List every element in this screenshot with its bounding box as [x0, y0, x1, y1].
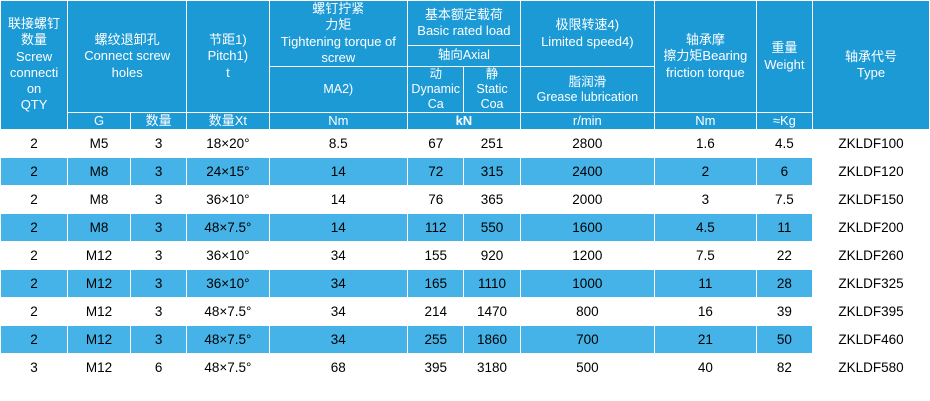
- unit-holes-qty: 数量: [130, 113, 186, 130]
- cell-holes-qty: 3: [130, 129, 186, 157]
- table-header: 联接螺钉 数量 Screw connecti on QTY 螺纹退卸孔 Conn…: [1, 1, 930, 130]
- header-connect-screw-qty: 联接螺钉 数量 Screw connecti on QTY: [1, 1, 68, 130]
- cell-pitch: 36×10°: [187, 241, 269, 269]
- cell-friction: 4.5: [654, 213, 756, 241]
- cell-connect: 3: [1, 353, 68, 381]
- cell-dynamic: 395: [408, 353, 464, 381]
- cell-type: ZKLDF395: [813, 297, 930, 325]
- cell-pitch: 36×10°: [187, 185, 269, 213]
- cell-speed: 2800: [520, 129, 654, 157]
- cell-holes-g: M5: [68, 129, 131, 157]
- cell-holes-g: M12: [68, 325, 131, 353]
- cell-type: ZKLDF150: [813, 185, 930, 213]
- unit-torque: Nm: [269, 113, 408, 130]
- cell-weight: 4.5: [756, 129, 812, 157]
- cell-friction: 16: [654, 297, 756, 325]
- header-row-main: 联接螺钉 数量 Screw connecti on QTY 螺纹退卸孔 Conn…: [1, 1, 930, 46]
- cell-type: ZKLDF580: [813, 353, 930, 381]
- cell-speed: 1000: [520, 269, 654, 297]
- table-row: 2M8336×10°1476365200037.5ZKLDF150: [1, 185, 930, 213]
- cell-weight: 28: [756, 269, 812, 297]
- cell-torque: 34: [269, 325, 408, 353]
- cell-weight: 7.5: [756, 185, 812, 213]
- header-limited-speed: 极限转速4) Limited speed4): [520, 1, 654, 67]
- table-row: 2M12336×10°34165111010001128ZKLDF325: [1, 269, 930, 297]
- header-tightening-torque: 螺钉拧紧 力矩 Tightening torque of screw: [269, 1, 408, 67]
- cell-pitch: 48×7.5°: [187, 297, 269, 325]
- cell-friction: 40: [654, 353, 756, 381]
- cell-dynamic: 112: [408, 213, 464, 241]
- cell-connect: 2: [1, 297, 68, 325]
- cell-holes-qty: 3: [130, 185, 186, 213]
- cell-pitch: 48×7.5°: [187, 213, 269, 241]
- cell-holes-qty: 3: [130, 157, 186, 185]
- cell-static: 315: [464, 157, 520, 185]
- cell-weight: 50: [756, 325, 812, 353]
- cell-dynamic: 72: [408, 157, 464, 185]
- cell-static: 1470: [464, 297, 520, 325]
- cell-holes-g: M8: [68, 213, 131, 241]
- cell-friction: 11: [654, 269, 756, 297]
- table-row: 2M12336×10°3415592012007.522ZKLDF260: [1, 241, 930, 269]
- cell-type: ZKLDF260: [813, 241, 930, 269]
- cell-static: 1860: [464, 325, 520, 353]
- unit-friction: Nm: [654, 113, 756, 130]
- cell-dynamic: 165: [408, 269, 464, 297]
- unit-pitch: 数量Xt: [187, 113, 269, 130]
- cell-torque: 14: [269, 185, 408, 213]
- cell-type: ZKLDF100: [813, 129, 930, 157]
- cell-type: ZKLDF120: [813, 157, 930, 185]
- cell-torque: 8.5: [269, 129, 408, 157]
- cell-connect: 2: [1, 325, 68, 353]
- cell-torque: 14: [269, 213, 408, 241]
- cell-weight: 6: [756, 157, 812, 185]
- cell-pitch: 24×15°: [187, 157, 269, 185]
- cell-holes-qty: 3: [130, 241, 186, 269]
- cell-static: 920: [464, 241, 520, 269]
- header-grease-lubrication: 脂润滑 Grease lubrication: [520, 67, 654, 113]
- cell-speed: 500: [520, 353, 654, 381]
- cell-holes-g: M12: [68, 269, 131, 297]
- cell-pitch: 36×10°: [187, 269, 269, 297]
- cell-holes-g: M8: [68, 185, 131, 213]
- cell-connect: 2: [1, 269, 68, 297]
- cell-static: 365: [464, 185, 520, 213]
- bearing-spec-table: 联接螺钉 数量 Screw connecti on QTY 螺纹退卸孔 Conn…: [0, 0, 930, 382]
- header-torque-ma2: MA2): [269, 67, 408, 113]
- cell-speed: 2000: [520, 185, 654, 213]
- table-row: 3M12648×7.5°6839531805004082ZKLDF580: [1, 353, 930, 381]
- cell-holes-g: M8: [68, 157, 131, 185]
- header-weight: 重量 Weight: [756, 1, 812, 113]
- header-axial: 轴向Axial: [408, 45, 521, 66]
- cell-type: ZKLDF200: [813, 213, 930, 241]
- cell-torque: 34: [269, 297, 408, 325]
- cell-friction: 2: [654, 157, 756, 185]
- cell-speed: 700: [520, 325, 654, 353]
- cell-connect: 2: [1, 241, 68, 269]
- cell-pitch: 18×20°: [187, 129, 269, 157]
- cell-static: 3180: [464, 353, 520, 381]
- unit-weight: ≈Kg: [756, 113, 812, 130]
- cell-friction: 7.5: [654, 241, 756, 269]
- cell-static: 1110: [464, 269, 520, 297]
- cell-friction: 21: [654, 325, 756, 353]
- cell-dynamic: 255: [408, 325, 464, 353]
- table-body: 2M5318×20°8.56725128001.64.5ZKLDF1002M83…: [1, 129, 930, 381]
- cell-torque: 68: [269, 353, 408, 381]
- cell-speed: 800: [520, 297, 654, 325]
- cell-pitch: 48×7.5°: [187, 325, 269, 353]
- cell-torque: 14: [269, 157, 408, 185]
- cell-holes-g: M12: [68, 353, 131, 381]
- cell-type: ZKLDF460: [813, 325, 930, 353]
- cell-weight: 11: [756, 213, 812, 241]
- cell-connect: 2: [1, 213, 68, 241]
- cell-holes-g: M12: [68, 297, 131, 325]
- cell-weight: 82: [756, 353, 812, 381]
- cell-type: ZKLDF325: [813, 269, 930, 297]
- cell-weight: 22: [756, 241, 812, 269]
- table-row: 2M5318×20°8.56725128001.64.5ZKLDF100: [1, 129, 930, 157]
- unit-load-kn: kN: [408, 113, 521, 130]
- cell-holes-qty: 3: [130, 269, 186, 297]
- cell-friction: 3: [654, 185, 756, 213]
- cell-dynamic: 76: [408, 185, 464, 213]
- cell-dynamic: 214: [408, 297, 464, 325]
- cell-static: 251: [464, 129, 520, 157]
- cell-speed: 1600: [520, 213, 654, 241]
- table-row: 2M8348×7.5°1411255016004.511ZKLDF200: [1, 213, 930, 241]
- header-connect-screw-holes: 螺纹退卸孔 Connect screw holes: [68, 1, 187, 113]
- cell-weight: 39: [756, 297, 812, 325]
- cell-dynamic: 67: [408, 129, 464, 157]
- cell-static: 550: [464, 213, 520, 241]
- cell-connect: 2: [1, 157, 68, 185]
- cell-holes-g: M12: [68, 241, 131, 269]
- cell-speed: 2400: [520, 157, 654, 185]
- cell-holes-qty: 6: [130, 353, 186, 381]
- cell-dynamic: 155: [408, 241, 464, 269]
- header-dynamic-ca: 动 Dynamic Ca: [408, 67, 464, 113]
- cell-torque: 34: [269, 269, 408, 297]
- cell-friction: 1.6: [654, 129, 756, 157]
- cell-pitch: 48×7.5°: [187, 353, 269, 381]
- header-basic-rated-load: 基本额定载荷 Basic rated load: [408, 1, 521, 46]
- header-pitch: 节距1) Pitch1) t: [187, 1, 269, 113]
- header-static-coa: 静 Static Coa: [464, 67, 520, 113]
- table-row: 2M12348×7.5°3425518607002150ZKLDF460: [1, 325, 930, 353]
- table-row: 2M8324×15°1472315240026ZKLDF120: [1, 157, 930, 185]
- table-row: 2M12348×7.5°3421414708001639ZKLDF395: [1, 297, 930, 325]
- cell-speed: 1200: [520, 241, 654, 269]
- header-bearing-type: 轴承代号 Type: [813, 1, 930, 130]
- cell-holes-qty: 3: [130, 213, 186, 241]
- header-bearing-friction-torque: 轴承摩 擦力矩Bearing friction torque: [654, 1, 756, 113]
- cell-connect: 2: [1, 185, 68, 213]
- cell-connect: 2: [1, 129, 68, 157]
- cell-holes-qty: 3: [130, 297, 186, 325]
- unit-speed: r/min: [520, 113, 654, 130]
- cell-torque: 34: [269, 241, 408, 269]
- unit-holes-g: G: [68, 113, 131, 130]
- cell-holes-qty: 3: [130, 325, 186, 353]
- header-row-units: G 数量 数量Xt Nm kN r/min Nm ≈Kg: [1, 113, 930, 130]
